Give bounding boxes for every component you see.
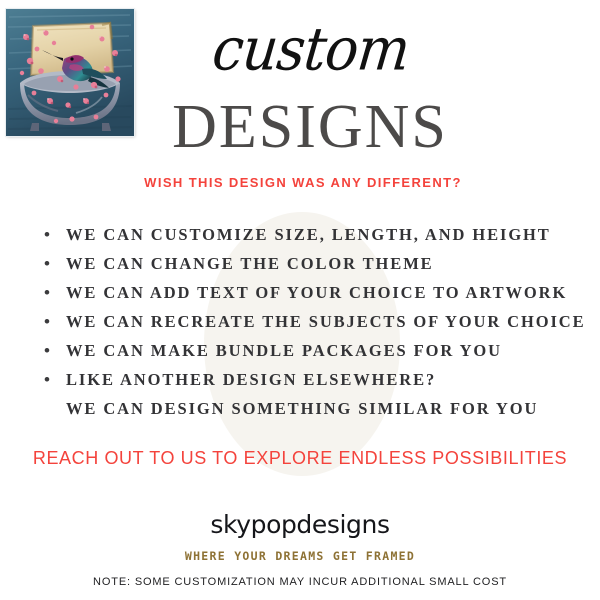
list-item-label: WE CAN CUSTOMIZE SIZE, LENGTH, AND HEIGH… — [66, 220, 551, 249]
list-item-label: WE CAN RECREATE THE SUBJECTS OF YOUR CHO… — [66, 307, 585, 336]
list-item: • WE CAN ADD TEXT OF YOUR CHOICE TO ARTW… — [44, 278, 589, 307]
list-item: • LIKE ANOTHER DESIGN ELSEWHERE? — [44, 365, 589, 394]
bullet-icon: • — [44, 278, 66, 307]
list-item: • WE CAN MAKE BUNDLE PACKAGES FOR YOU — [44, 336, 589, 365]
call-to-action-text: REACH OUT TO US TO EXPLORE ENDLESS POSSI… — [0, 446, 600, 470]
bullet-icon: • — [44, 307, 66, 336]
list-item-continuation: WE CAN DESIGN SOMETHING SIMILAR FOR YOU — [44, 394, 589, 423]
list-item-label: LIKE ANOTHER DESIGN ELSEWHERE? — [66, 365, 436, 394]
list-item-label: WE CAN MAKE BUNDLE PACKAGES FOR YOU — [66, 336, 502, 365]
list-item: • WE CAN RECREATE THE SUBJECTS OF YOUR C… — [44, 307, 589, 336]
artwork-thumbnail[interactable] — [6, 9, 134, 136]
list-item: • WE CAN CHANGE THE COLOR THEME — [44, 249, 589, 278]
custom-designs-poster: custom DESIGNS WISH THIS DESIGN WAS ANY … — [0, 0, 600, 600]
hummingbird-bathtub-painting-icon — [6, 9, 134, 136]
brand-name: skypopdesigns — [0, 510, 600, 540]
footnote-disclaimer: NOTE: SOME CUSTOMIZATION MAY INCUR ADDIT… — [0, 575, 600, 590]
list-item-label: WE CAN CHANGE THE COLOR THEME — [66, 249, 434, 278]
bullet-icon: • — [44, 220, 66, 249]
list-item: • WE CAN CUSTOMIZE SIZE, LENGTH, AND HEI… — [44, 220, 589, 249]
list-item-label: WE CAN DESIGN SOMETHING SIMILAR FOR YOU — [66, 394, 538, 423]
bullet-icon: • — [44, 249, 66, 278]
feature-list: • WE CAN CUSTOMIZE SIZE, LENGTH, AND HEI… — [44, 220, 589, 423]
subtitle-question: WISH THIS DESIGN WAS ANY DIFFERENT? — [0, 174, 600, 191]
bullet-icon: • — [44, 336, 66, 365]
list-item-label: WE CAN ADD TEXT OF YOUR CHOICE TO ARTWOR… — [66, 278, 567, 307]
brand-tagline: WHERE YOUR DREAMS GET FRAMED — [0, 548, 600, 564]
bullet-icon: • — [44, 365, 66, 394]
